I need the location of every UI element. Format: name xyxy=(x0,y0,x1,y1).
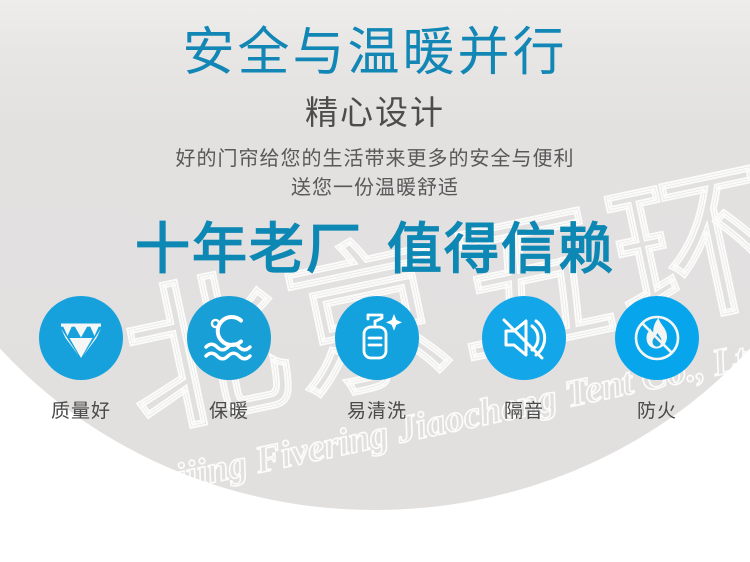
feature-icon-circle xyxy=(187,296,271,380)
page-subtitle: 精心设计 xyxy=(0,92,750,134)
spray-bottle-icon xyxy=(335,296,419,380)
slogan-part-left: 十年老厂 xyxy=(135,217,363,281)
feature-label: 保暖 xyxy=(174,396,284,423)
feature-item-fireproof[interactable]: 防火 xyxy=(602,296,712,423)
feature-item-sound-insulation[interactable]: 隔音 xyxy=(469,296,579,423)
promo-banner: 北京五环 Beijing Fivering Jiaocheng Tent Co.… xyxy=(0,0,750,562)
description-block: 好的门帘给您的生活带来更多的安全与便利 送您一份温暖舒适 xyxy=(0,144,750,202)
feature-list: 质量好 保暖 xyxy=(0,296,750,436)
feature-icon-circle xyxy=(335,296,419,380)
diamond-icon xyxy=(39,296,123,380)
description-line-1: 好的门帘给您的生活带来更多的安全与便利 xyxy=(0,144,750,173)
page-title: 安全与温暖并行 xyxy=(0,22,750,84)
temperature-wave-icon xyxy=(187,296,271,380)
no-fire-icon xyxy=(615,296,699,380)
feature-label: 防火 xyxy=(602,396,712,423)
slogan: 十年老厂值得信赖 xyxy=(0,216,750,282)
feature-icon-circle xyxy=(482,296,566,380)
feature-item-warmth[interactable]: 保暖 xyxy=(174,296,284,423)
muted-speaker-icon xyxy=(482,296,566,380)
feature-item-easy-clean[interactable]: 易清洗 xyxy=(322,296,432,423)
feature-label: 易清洗 xyxy=(322,396,432,423)
feature-item-quality[interactable]: 质量好 xyxy=(26,296,136,423)
feature-icon-circle xyxy=(615,296,699,380)
feature-label: 隔音 xyxy=(469,396,579,423)
feature-icon-circle xyxy=(39,296,123,380)
feature-label: 质量好 xyxy=(26,396,136,423)
slogan-part-right: 值得信赖 xyxy=(387,217,615,281)
description-line-2: 送您一份温暖舒适 xyxy=(0,173,750,202)
